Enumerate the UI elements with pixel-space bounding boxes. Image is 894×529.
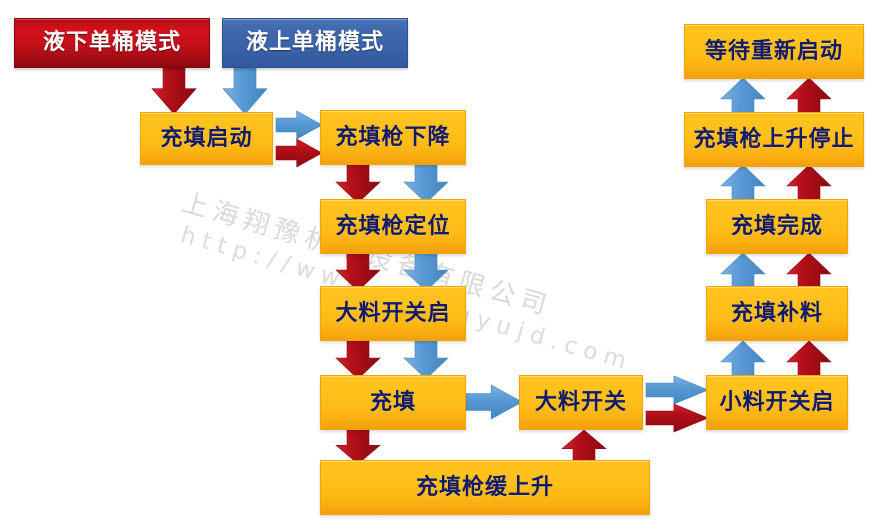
node-big-valve[interactable]: 大料开关 [519, 375, 643, 430]
arrow-shape [787, 165, 831, 203]
arrow-a-bigvalve-to-small-r [646, 404, 708, 432]
node-label: 充填枪定位 [335, 216, 450, 238]
arrow-a-big-to-fill-r [336, 341, 380, 379]
arrow-a-fill-to-bigvalve [466, 385, 522, 419]
node-gun-up-stop[interactable]: 充填枪上升停止 [684, 112, 864, 167]
node-fill-complete[interactable]: 充填完成 [706, 199, 848, 254]
node-fill-topup[interactable]: 充填补料 [706, 286, 848, 341]
node-label: 充填补料 [731, 303, 823, 325]
node-label: 充填启动 [160, 128, 252, 150]
node-label: 充填完成 [731, 216, 823, 238]
node-label: 液上单桶模式 [246, 32, 384, 54]
arrow-shape [721, 165, 765, 203]
arrow-a-small-to-topup-b [721, 341, 765, 379]
arrow-a-start-to-gundown-r [276, 139, 322, 167]
arrow-a-stop-to-wait-r [787, 78, 831, 116]
arrow-a-bigvalve-to-small-b [646, 376, 708, 404]
node-label: 小料开关启 [719, 392, 834, 414]
node-label: 液下单桶模式 [43, 32, 181, 54]
arrow-a-complete-to-stop-b [721, 165, 765, 203]
node-gun-down[interactable]: 充填枪下降 [320, 110, 466, 165]
node-label: 等待重新启动 [705, 41, 843, 63]
arrow-a-small-to-topup-r [787, 341, 831, 379]
arrow-shape [152, 68, 196, 114]
node-label: 大料开关启 [335, 303, 450, 325]
arrow-a-slowup-to-bigvalve [562, 430, 606, 464]
node-label: 充填枪下降 [335, 127, 450, 149]
arrow-shape [787, 341, 831, 379]
arrow-a-gundown-to-pos-b [404, 165, 448, 203]
arrow-a-mode-blue-to-start [223, 68, 267, 114]
node-label: 充填枪上升停止 [693, 129, 854, 151]
arrow-shape [336, 341, 380, 379]
node-mode-above[interactable]: 液上单桶模式 [222, 18, 408, 68]
arrow-shape [721, 341, 765, 379]
arrow-a-gundown-to-pos-r [336, 165, 380, 203]
node-label: 充填 [370, 392, 416, 414]
node-fill-start[interactable]: 充填启动 [140, 112, 273, 165]
node-big-valve-open[interactable]: 大料开关启 [320, 286, 466, 341]
arrow-shape [404, 165, 448, 203]
node-small-valve-open[interactable]: 小料开关启 [706, 375, 848, 430]
arrow-shape [721, 78, 765, 116]
arrow-a-complete-to-stop-r [787, 165, 831, 203]
flowchart-canvas: 上海翔豫机电设备有限公司 http://www.xiangyujd.com 液下… [0, 0, 894, 529]
node-filling[interactable]: 充填 [320, 375, 466, 430]
arrow-shape [646, 376, 708, 404]
arrow-a-mode-red-to-start [152, 68, 196, 114]
arrow-shape [787, 78, 831, 116]
node-label: 充填枪缓上升 [416, 477, 554, 499]
node-mode-submerged[interactable]: 液下单桶模式 [14, 18, 210, 68]
arrow-shape [336, 165, 380, 203]
arrow-shape [646, 404, 708, 432]
arrow-a-stop-to-wait-b [721, 78, 765, 116]
node-label: 大料开关 [535, 392, 627, 414]
arrow-shape [336, 430, 380, 464]
arrow-a-big-to-fill-b [404, 341, 448, 379]
node-gun-position[interactable]: 充填枪定位 [320, 199, 466, 254]
arrow-shape [466, 385, 522, 419]
arrow-shape [562, 430, 606, 464]
node-gun-slow-up[interactable]: 充填枪缓上升 [320, 460, 650, 515]
node-wait-restart[interactable]: 等待重新启动 [684, 24, 864, 79]
arrow-shape [276, 139, 322, 167]
arrow-a-start-to-gundown-b [276, 111, 322, 139]
arrow-shape [223, 68, 267, 114]
arrow-a-fill-to-slowup [336, 430, 380, 464]
arrow-shape [404, 341, 448, 379]
arrow-shape [276, 111, 322, 139]
